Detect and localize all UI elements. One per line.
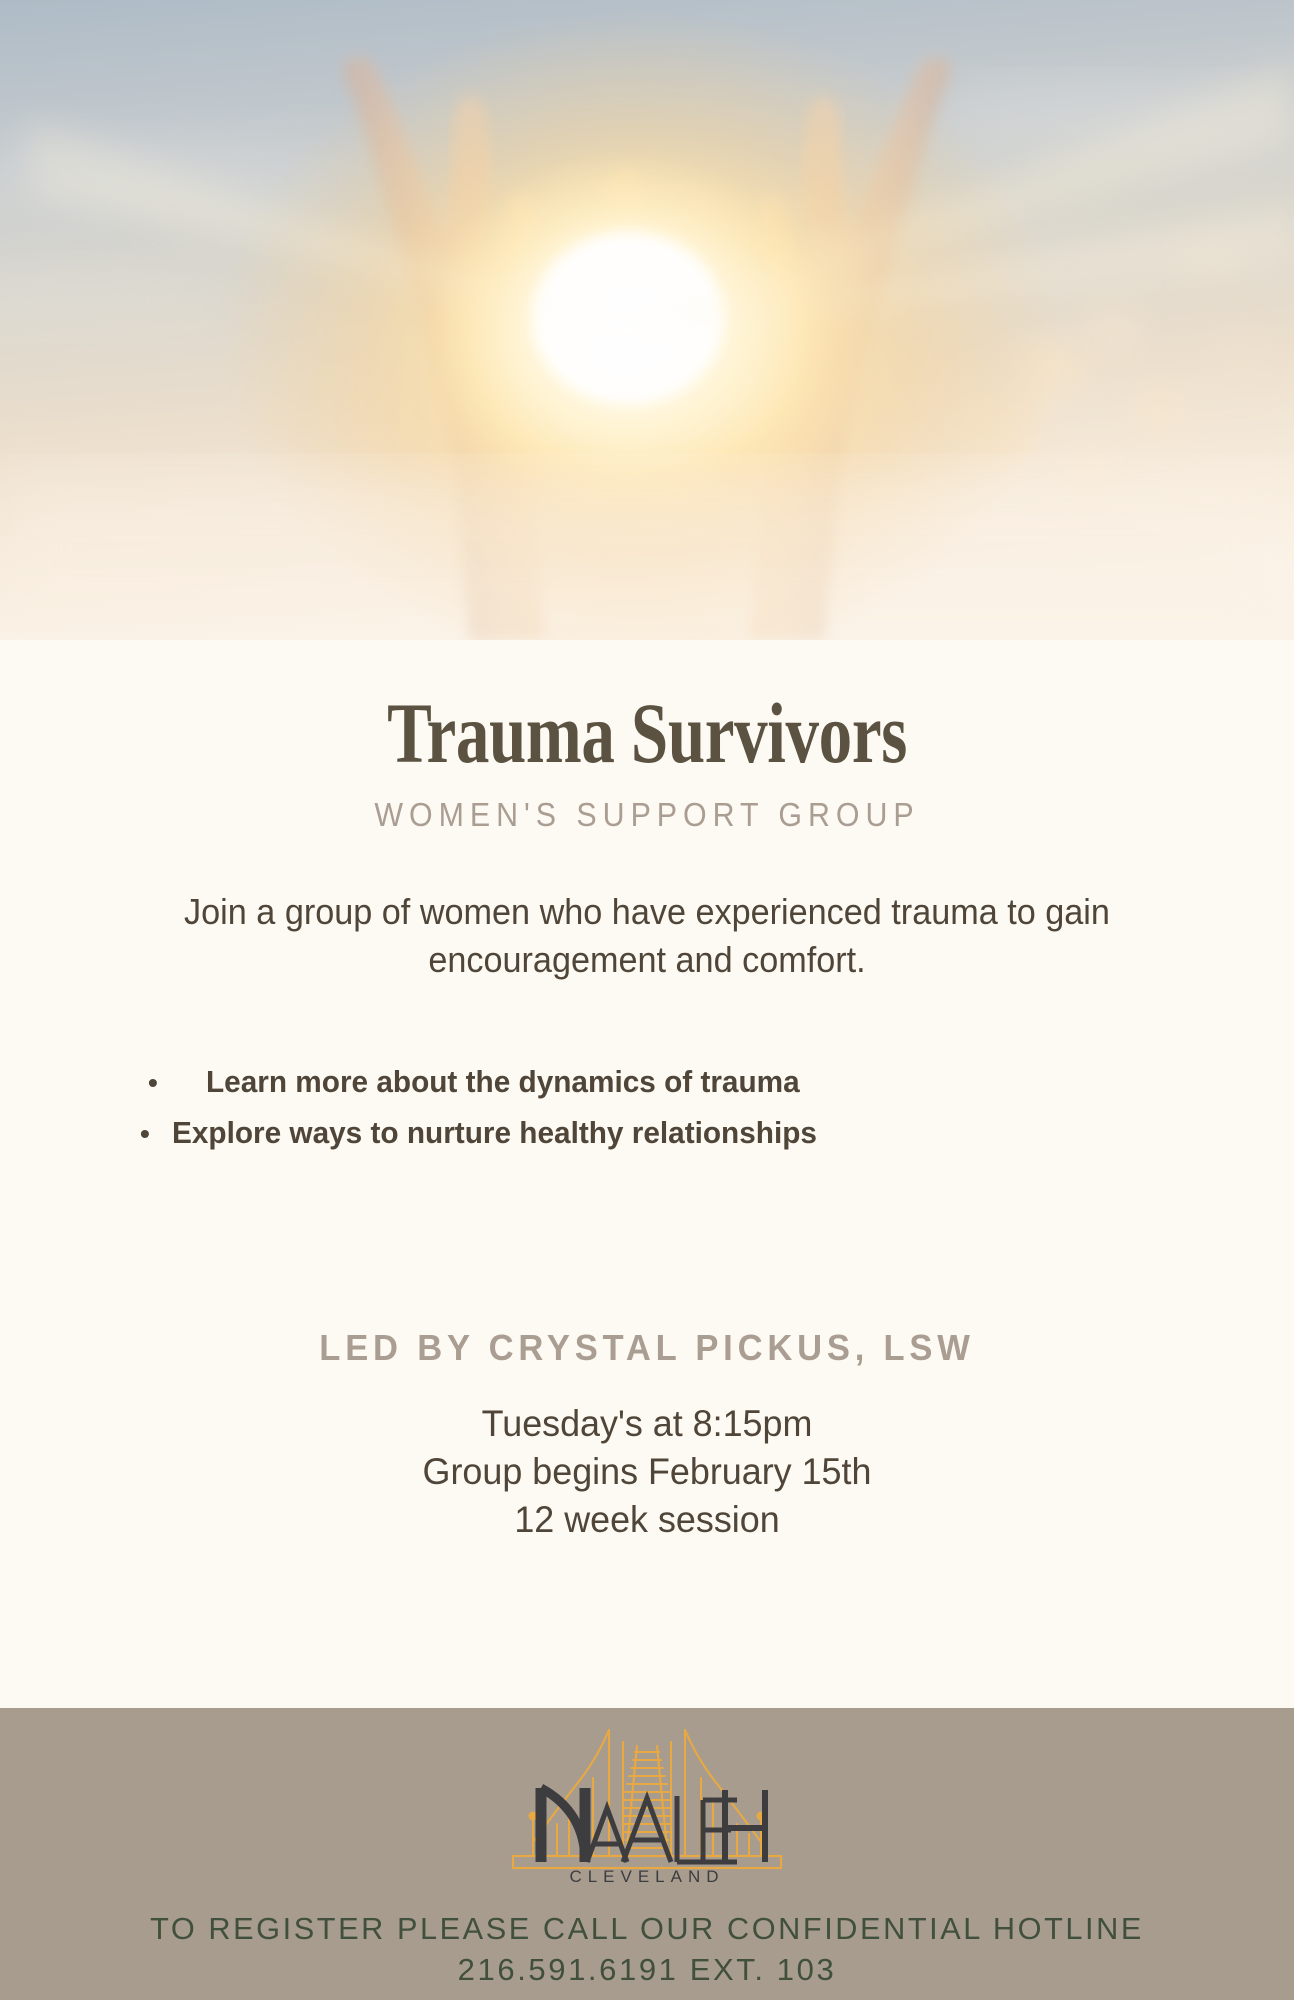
schedule-start-date: Group begins February 15th bbox=[19, 1448, 1274, 1496]
benefits-list: • Learn more about the dynamics of traum… bbox=[0, 1066, 1294, 1168]
schedule-duration: 12 week session bbox=[19, 1496, 1274, 1544]
naaleh-cleveland-logo: CLEVELAND bbox=[0, 1716, 1294, 1886]
bullet-dot-icon: • bbox=[140, 1120, 150, 1148]
hotline-phone-number: 216.591.6191 EXT. 103 bbox=[0, 1954, 1294, 1985]
flyer-poster: Trauma Survivors WOMEN'S SUPPORT GROUP J… bbox=[0, 0, 1294, 2000]
hotline-instruction: TO REGISTER PLEASE CALL OUR CONFIDENTIAL… bbox=[6, 1913, 1287, 1944]
list-item-label: Explore ways to nurture healthy relation… bbox=[172, 1117, 817, 1148]
list-item: • Learn more about the dynamics of traum… bbox=[0, 1066, 1294, 1097]
logo-tagline: CLEVELAND bbox=[569, 1867, 724, 1886]
list-item-label: Learn more about the dynamics of trauma bbox=[206, 1066, 800, 1097]
hands-holding-sunlight-illustration bbox=[0, 0, 1294, 640]
logo-svg: CLEVELAND bbox=[437, 1716, 857, 1886]
facilitator-label: LED BY CRYSTAL PICKUS, LSW bbox=[26, 1330, 1268, 1366]
schedule-block: Tuesday's at 8:15pm Group begins Februar… bbox=[19, 1400, 1274, 1544]
list-item: • Explore ways to nurture healthy relati… bbox=[0, 1117, 1294, 1148]
bullet-dot-icon: • bbox=[148, 1069, 158, 1097]
page-title: Trauma Survivors bbox=[142, 690, 1151, 776]
page-subtitle: WOMEN'S SUPPORT GROUP bbox=[52, 798, 1242, 831]
hero-photo bbox=[0, 0, 1294, 640]
intro-paragraph: Join a group of women who have experienc… bbox=[77, 888, 1217, 983]
schedule-time: Tuesday's at 8:15pm bbox=[19, 1400, 1274, 1448]
